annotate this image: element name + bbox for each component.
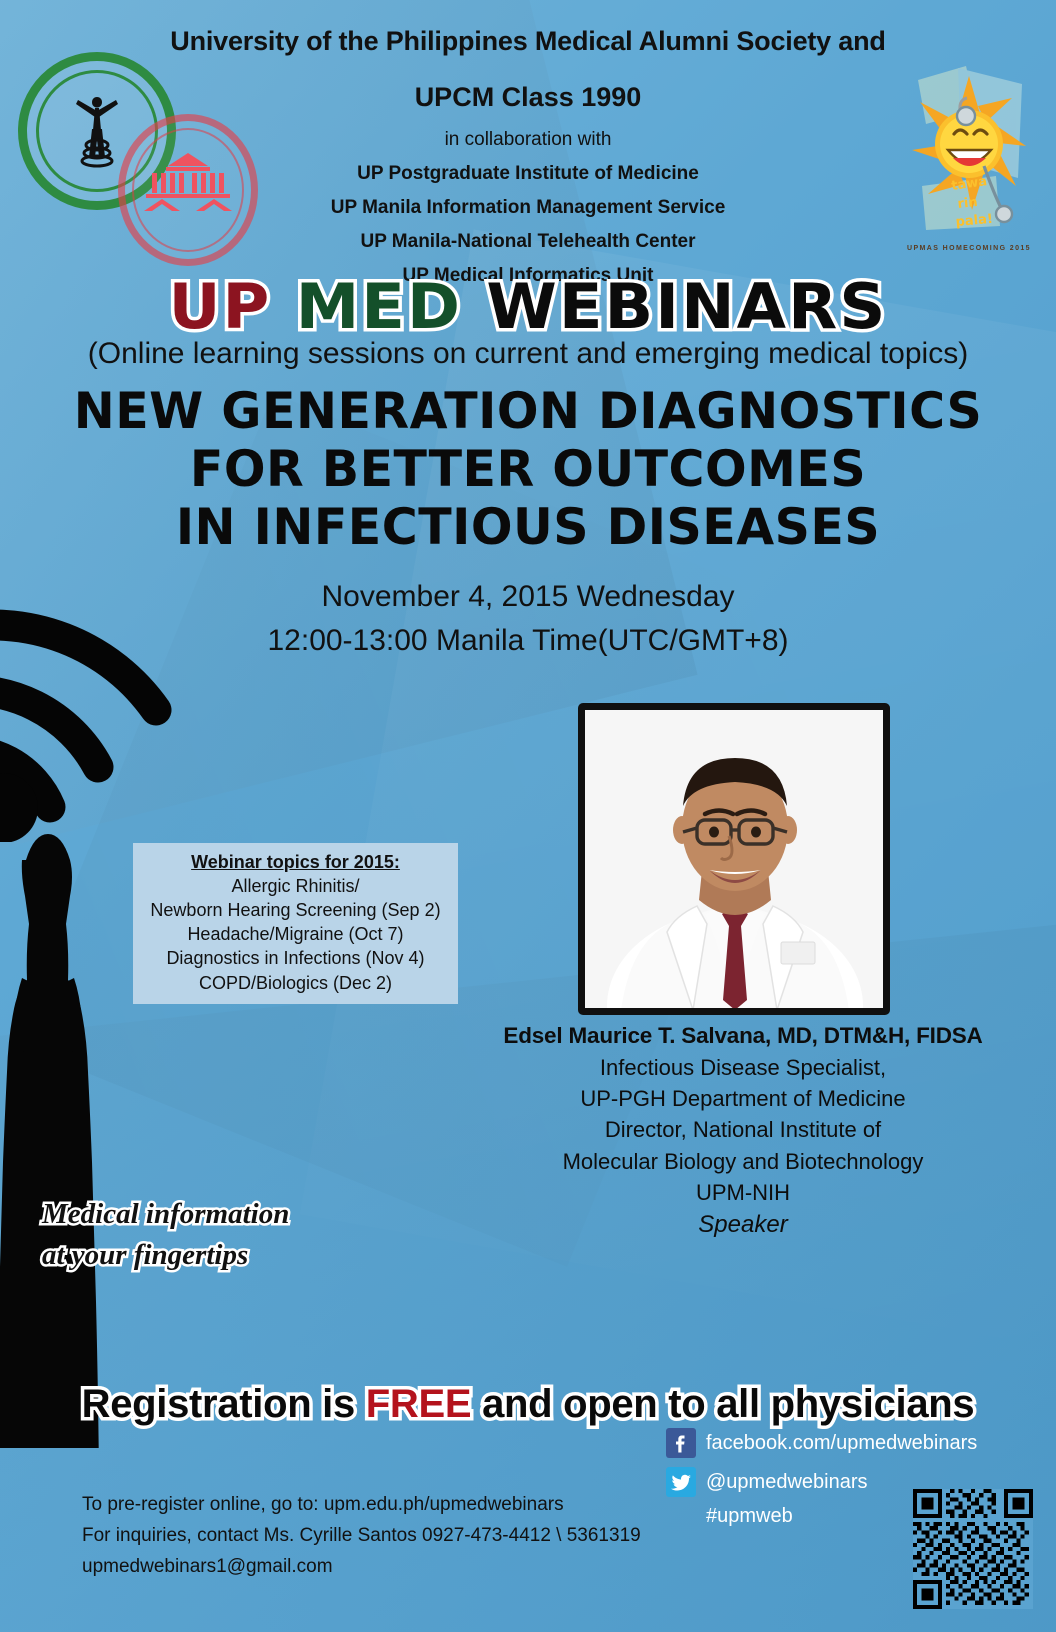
partner-item: UP Manila-National Telehealth Center [0,229,1056,256]
speaker-role: Speaker [458,1208,1028,1242]
topic-item: Allergic Rhinitis/ [139,874,452,898]
topic-item: Diagnostics in Infections (Nov 4) [139,946,452,970]
topic-item: Headache/Migraine (Oct 7) [139,922,452,946]
registration-text-after: and open to all physicians [471,1382,974,1426]
contact-email[interactable]: upmedwebinars1@gmail.com [82,1552,682,1583]
speaker-affiliation: UP-PGH Department of Medicine [458,1083,1028,1114]
organizer-line-2: UPCM Class 1990 [0,78,1056,116]
speaker-name: Edsel Maurice T. Salvana, MD, DTM&H, FID… [458,1020,1028,1052]
topic-item: Newborn Hearing Screening (Sep 2) [139,898,452,922]
contact-line: For inquiries, contact Ms. Cyrille Santo… [82,1521,682,1552]
webinar-title: NEW GENERATION DIAGNOSTICS FOR BETTER OU… [11,382,1046,556]
facebook-icon [666,1428,696,1458]
contact-line: To pre-register online, go to: upm.edu.p… [82,1490,682,1521]
collaboration-label: in collaboration with [0,127,1056,154]
topic-item: COPD/Biologics (Dec 2) [139,971,452,995]
brand-part-webinars: WEBINARS [486,270,887,343]
webinar-topics-box: Webinar topics for 2015: Allergic Rhinit… [133,843,458,1004]
organizer-header: University of the Philippines Medical Al… [0,22,1056,290]
organizer-line-1: University of the Philippines Medical Al… [0,22,1056,60]
facebook-row[interactable]: facebook.com/upmedwebinars [666,1428,1006,1458]
twitter-icon [666,1467,696,1497]
slogan-line-1: Medical information [42,1194,462,1235]
slogan-line-2: at your fingertips [42,1235,462,1276]
oblation-monument-silhouette [0,828,116,1448]
brand-subtitle: (Online learning sessions on current and… [0,337,1056,371]
speaker-affiliation: Molecular Biology and Biotechnology [458,1146,1028,1177]
topics-heading: Webinar topics for 2015: [139,850,452,874]
webinar-title-line-1: NEW GENERATION DIAGNOSTICS [11,382,1046,440]
wifi-signal-icon [0,562,203,842]
contact-details: To pre-register online, go to: upm.edu.p… [82,1490,682,1582]
registration-banner: Registration is FREE and open to all phy… [0,1382,1056,1427]
speaker-affiliation: Director, National Institute of [458,1114,1028,1145]
brand-part-up: UP [169,270,272,343]
brand-part-med: MED [296,270,462,343]
speaker-affiliation: UPM-NIH [458,1177,1028,1208]
slogan: Medical information at your fingertips [42,1194,462,1276]
speaker-portrait-photo [578,703,890,1015]
twitter-handle[interactable]: @upmedwebinars [706,1472,868,1492]
poster-canvas: tawa rin pala! UPMAS HOMECOMING 2015 Uni… [0,0,1056,1632]
speaker-affiliation: Infectious Disease Specialist, [458,1052,1028,1083]
brand-title: UP MED WEBINARS [0,270,1056,343]
partner-item: UP Manila Information Management Service [0,195,1056,222]
webinar-title-line-2: FOR BETTER OUTCOMES [11,440,1046,498]
qr-code[interactable] [913,1489,1033,1609]
partner-item: UP Postgraduate Institute of Medicine [0,161,1056,188]
webinar-title-line-3: IN INFECTIOUS DISEASES [11,498,1046,556]
registration-text-before: Registration is [82,1382,366,1426]
speaker-details: Edsel Maurice T. Salvana, MD, DTM&H, FID… [458,1020,1028,1242]
registration-free-label: FREE [366,1382,471,1426]
facebook-link[interactable]: facebook.com/upmedwebinars [706,1433,977,1453]
